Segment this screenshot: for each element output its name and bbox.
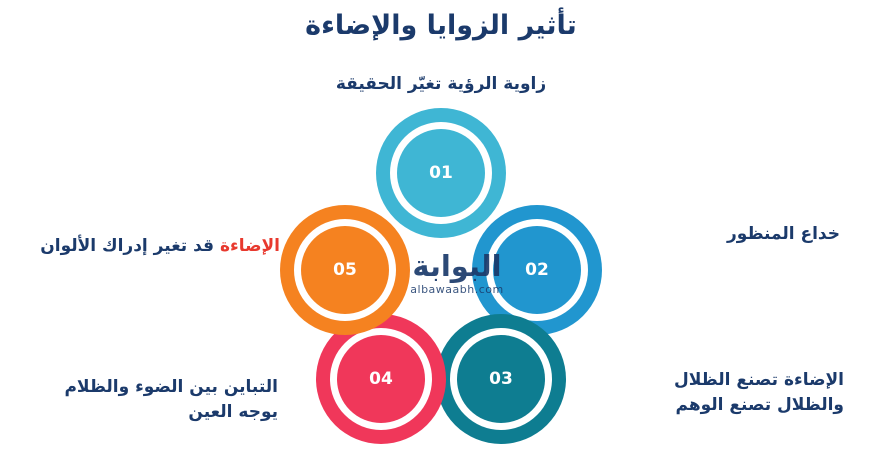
label-node-01: زاوية الرؤية تغيّر الحقيقة (291, 72, 591, 97)
node-05-number: 05 (301, 226, 389, 314)
node-04-number: 04 (337, 335, 425, 423)
label-node-05-text: قد تغير إدراك الألوان (40, 236, 214, 256)
page-title: تأثير الزوايا والإضاءة (0, 10, 882, 41)
node-03[interactable]: 03 (436, 314, 566, 444)
label-node-05: الإضاءة قد تغير إدراك الألوان (14, 234, 280, 259)
label-node-03: الإضاءة تصنع الظلال والظلال تصنع الوهم (612, 368, 844, 417)
circle-cluster: 01 02 03 04 05 (276, 108, 606, 448)
label-node-04: التباين بين الضوء والظلام يوجه العين (20, 375, 278, 424)
node-02-number: 02 (493, 226, 581, 314)
node-03-number: 03 (457, 335, 545, 423)
infographic-root: تأثير الزوايا والإضاءة 01 02 03 04 05 ال… (0, 0, 882, 469)
label-node-05-accent: الإضاءة (220, 236, 280, 256)
label-node-02: خداع المنظور (640, 222, 840, 247)
node-01[interactable]: 01 (376, 108, 506, 238)
node-01-number: 01 (397, 129, 485, 217)
node-05[interactable]: 05 (280, 205, 410, 335)
